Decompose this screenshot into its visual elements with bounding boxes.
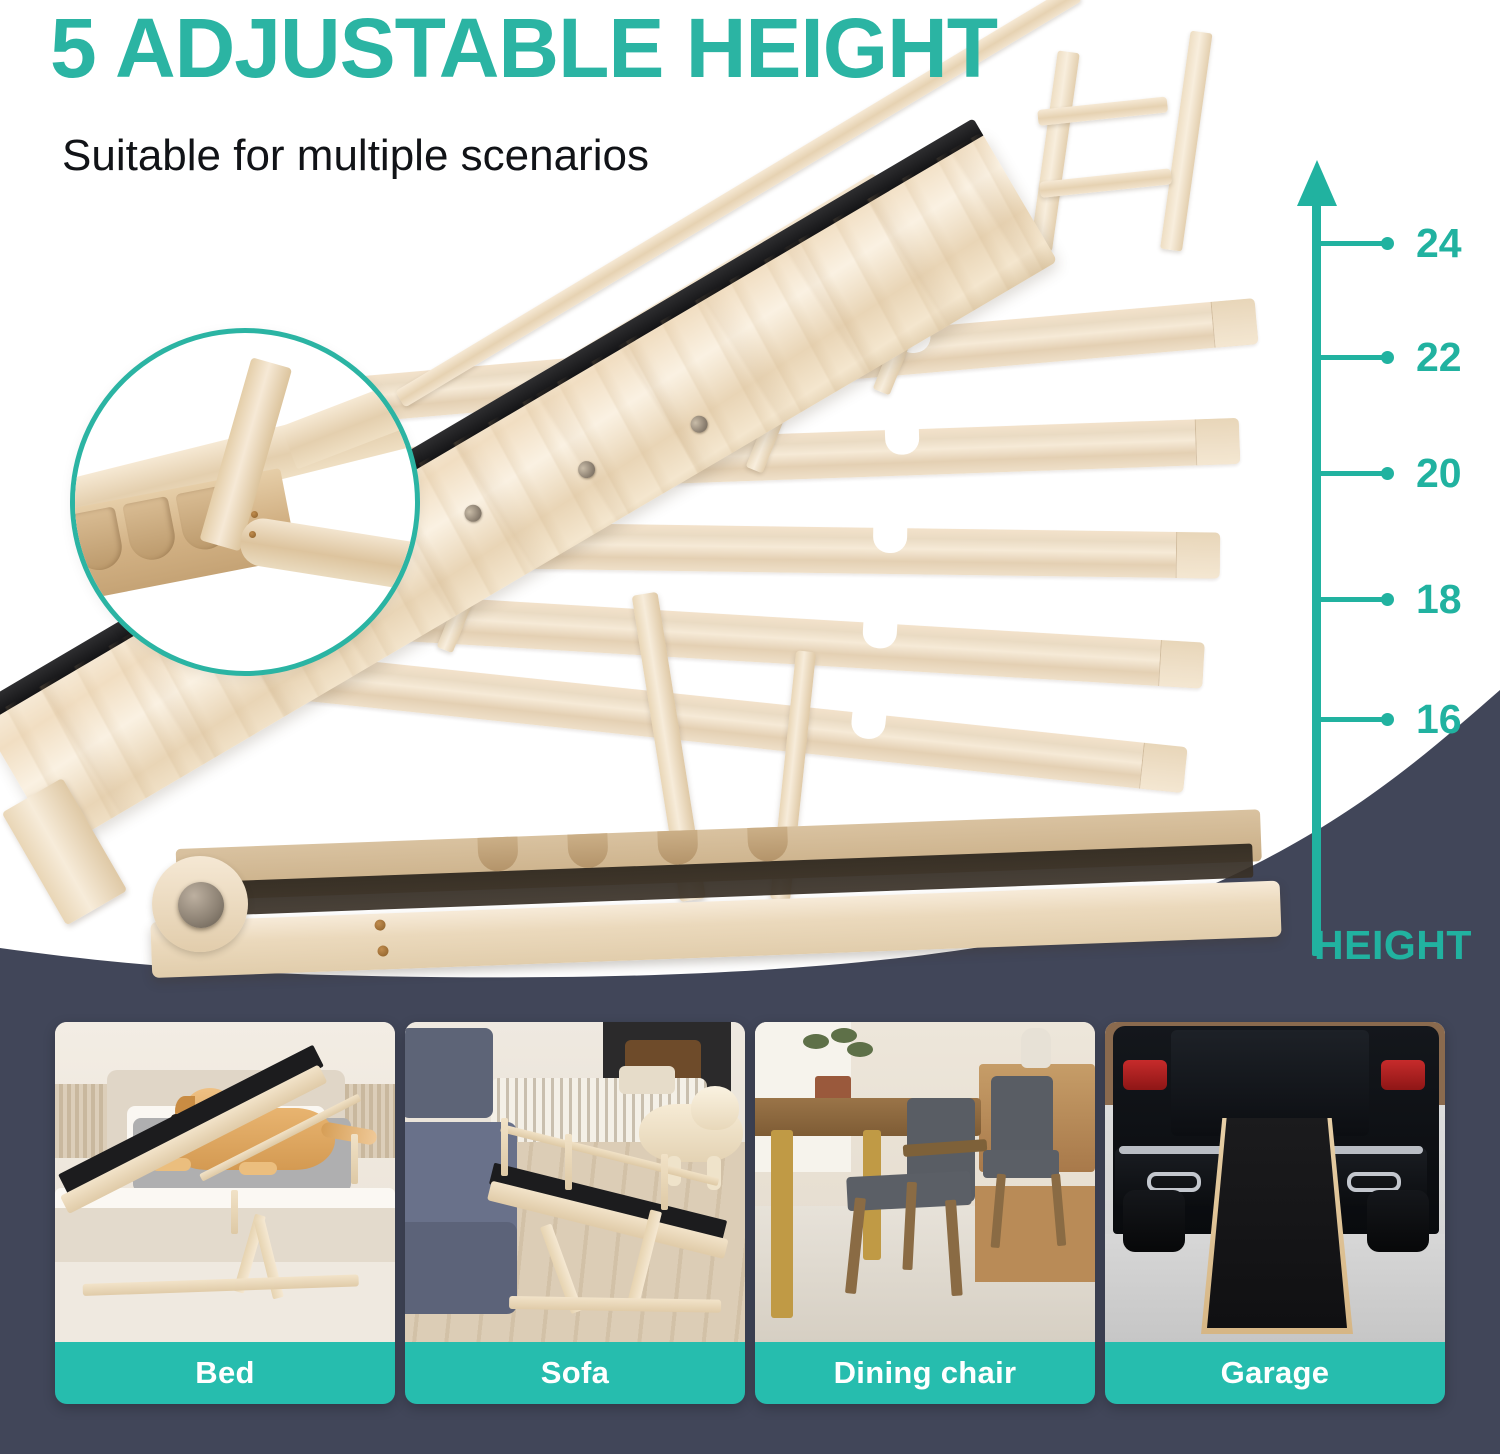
scenario-label-sofa: Sofa (405, 1342, 745, 1404)
ramp-handrail-post (501, 1118, 508, 1176)
plant-leaf (803, 1034, 829, 1049)
ramp-handrail-post (661, 1154, 668, 1210)
ghost-ramp-tip (1211, 298, 1259, 348)
infographic-canvas: 5 ADJUSTABLE HEIGHT Suitable for multipl… (0, 0, 1500, 1454)
wheel-left (1123, 1190, 1185, 1252)
tick-label: 24 (1416, 223, 1462, 264)
scenario-label-garage: Garage (1105, 1342, 1445, 1404)
page-headline: 5 ADJUSTABLE HEIGHT (50, 6, 997, 90)
tick-line (1316, 241, 1384, 246)
tick-label: 20 (1416, 453, 1462, 494)
tick-line (1316, 717, 1384, 722)
scale-tick-18: 18 (1316, 584, 1462, 614)
tick-dot (1381, 237, 1394, 250)
ramp-handrail-post (565, 1134, 572, 1190)
tick-line (1316, 471, 1384, 476)
ghost-ramp-tip (1139, 743, 1188, 793)
sofa-armrest (405, 1222, 517, 1314)
scale-tick-24: 24 (1316, 228, 1462, 258)
tick-dot (1381, 467, 1394, 480)
scenario-label-bed: Bed (55, 1342, 395, 1404)
scenario-photo-sofa (405, 1022, 745, 1342)
height-axis-label: HEIGHT (1314, 922, 1472, 969)
scenario-photo-dining-chair (755, 1022, 1095, 1342)
scenario-photo-bed (55, 1022, 395, 1342)
plant-leaf (831, 1028, 857, 1043)
plant-leaf (847, 1042, 873, 1057)
wheel-right (1367, 1190, 1429, 1252)
ghost-ramp-tip (1195, 418, 1241, 466)
scenario-card-sofa[interactable]: Sofa (405, 1022, 745, 1404)
scenario-thumbnail-row: Bed (0, 1022, 1500, 1422)
detail-screw (249, 531, 256, 538)
scale-axis-line (1312, 196, 1321, 956)
scenario-label-dining-chair: Dining chair (755, 1342, 1095, 1404)
detail-round-dowel (237, 515, 420, 595)
table-leg (771, 1130, 793, 1318)
sofa-backrest (405, 1028, 493, 1118)
tick-label: 18 (1416, 579, 1462, 620)
tick-line (1316, 597, 1384, 602)
scenario-card-bed[interactable]: Bed (55, 1022, 395, 1404)
tick-line (1316, 355, 1384, 360)
base-frame (148, 809, 1282, 978)
detail-tooth (122, 496, 179, 564)
ghost-ramp-tip (1158, 640, 1205, 689)
pivot-hinge-disc (178, 882, 224, 928)
scenario-photo-garage (1105, 1022, 1445, 1342)
detail-tooth (70, 506, 126, 574)
ramp-nonslip-surface (1207, 1118, 1347, 1328)
tail-light-right (1381, 1060, 1425, 1090)
ramp-handrail-post (351, 1134, 358, 1184)
labrador-head (691, 1086, 739, 1130)
tick-dot (1381, 351, 1394, 364)
page-subheadline: Suitable for multiple scenarios (62, 134, 649, 178)
tail-light-left (1123, 1060, 1167, 1090)
exhaust-tip-right (1347, 1172, 1401, 1192)
tick-dot (1381, 593, 1394, 606)
vase (1021, 1028, 1051, 1068)
chair-seat-rear (983, 1150, 1059, 1178)
detail-screw (251, 511, 258, 518)
notch-detail-inset (70, 328, 420, 676)
height-scale: 24 22 20 18 16 HEIGHT (1300, 160, 1500, 960)
scale-tick-20: 20 (1316, 458, 1462, 488)
scenario-card-garage[interactable]: Garage (1105, 1022, 1445, 1404)
scale-tick-16: 16 (1316, 704, 1462, 734)
tick-label: 22 (1416, 337, 1462, 378)
ramp-handrail-post (231, 1190, 238, 1234)
golden-retriever-paw (239, 1162, 277, 1175)
wall-slats-left (55, 1084, 107, 1158)
scenario-card-dining-chair[interactable]: Dining chair (755, 1022, 1095, 1404)
ghost-ramp-tip (1176, 532, 1221, 579)
tick-dot (1381, 713, 1394, 726)
scale-tick-22: 22 (1316, 342, 1462, 372)
tick-label: 16 (1416, 699, 1462, 740)
exhaust-tip-left (1147, 1172, 1201, 1192)
